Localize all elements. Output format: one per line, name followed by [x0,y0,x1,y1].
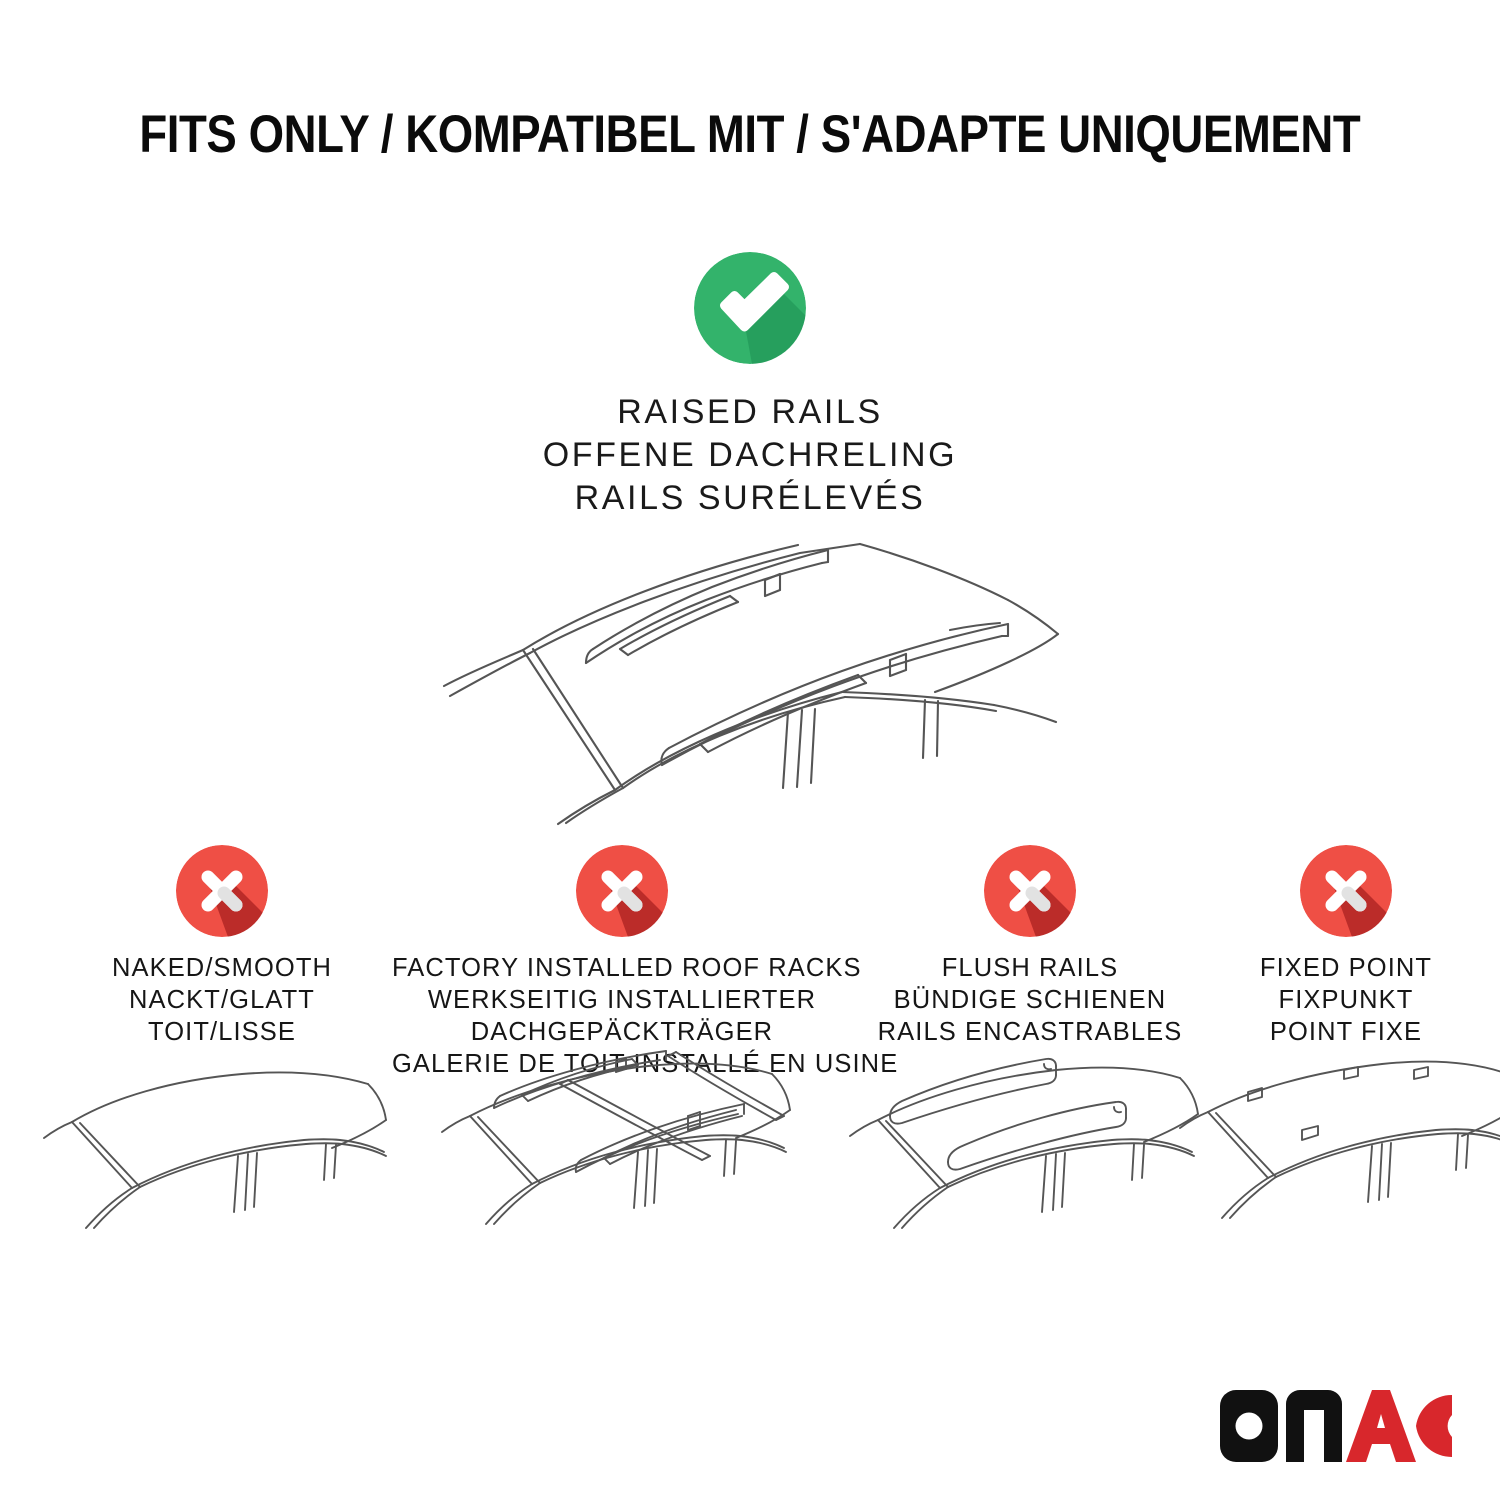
logo-letter-c [1416,1395,1452,1457]
label-line-2: NACKT/GLATT [52,984,392,1016]
x-circle-icon [576,845,668,937]
label-line-1: FLUSH RAILS [852,952,1208,984]
omac-logo-mark [1220,1390,1452,1462]
check-circle-icon [694,252,806,364]
x-circle-icon [176,845,268,937]
label-line-3: DACHGEPÄCKTRÄGER [392,1016,852,1048]
label-line-1: NAKED/SMOOTH [52,952,392,984]
compatible-section: RAISED RAILS OFFENE DACHRELING RAILS SUR… [0,252,1500,521]
label-line-3: POINT FIXE [1196,1016,1496,1048]
label-line-1: FACTORY INSTALLED ROOF RACKS [392,952,852,984]
fixed-point-roof-illustration [1176,1050,1500,1280]
omac-logo [1220,1390,1452,1462]
incompatible-label-group: NAKED/SMOOTH NACKT/GLATT TOIT/LISSE [52,952,392,1048]
label-line-2: BÜNDIGE SCHIENEN [852,984,1208,1016]
incompatible-item-factory-roof-racks: FACTORY INSTALLED ROOF RACKS WERKSEITIG … [392,845,852,1081]
logo-letter-m [1286,1390,1342,1462]
compatible-label-line-1: RAISED RAILS [0,391,1500,434]
factory-roof-racks-illustration [436,1050,808,1280]
label-line-1: FIXED POINT [1196,952,1496,984]
x-circle-icon [1300,845,1392,937]
incompatible-item-naked-smooth: NAKED/SMOOTH NACKT/GLATT TOIT/LISSE [52,845,392,1048]
incompatible-label-group: FLUSH RAILS BÜNDIGE SCHIENEN RAILS ENCAS… [852,952,1208,1048]
label-line-2: FIXPUNKT [1196,984,1496,1016]
label-line-3: RAILS ENCASTRABLES [852,1016,1208,1048]
logo-letter-o [1220,1390,1278,1462]
compatible-label-line-2: OFFENE DACHRELING [0,434,1500,477]
logo-letter-a [1346,1390,1416,1462]
incompatible-label-group: FIXED POINT FIXPUNKT POINT FIXE [1196,952,1496,1048]
incompatible-section: NAKED/SMOOTH NACKT/GLATT TOIT/LISSE [0,845,1500,1405]
raised-rails-illustration [390,500,1110,850]
naked-smooth-roof-illustration [42,1050,402,1280]
label-line-2: WERKSEITIG INSTALLIERTER [392,984,852,1016]
page-title: FITS ONLY / KOMPATIBEL MIT / S'ADAPTE UN… [140,104,1361,165]
header: FITS ONLY / KOMPATIBEL MIT / S'ADAPTE UN… [0,104,1500,165]
label-line-3: TOIT/LISSE [52,1016,392,1048]
flush-rails-illustration [844,1050,1216,1280]
x-circle-icon [984,845,1076,937]
incompatible-item-flush-rails: FLUSH RAILS BÜNDIGE SCHIENEN RAILS ENCAS… [852,845,1208,1048]
incompatible-item-fixed-point: FIXED POINT FIXPUNKT POINT FIXE [1196,845,1496,1048]
